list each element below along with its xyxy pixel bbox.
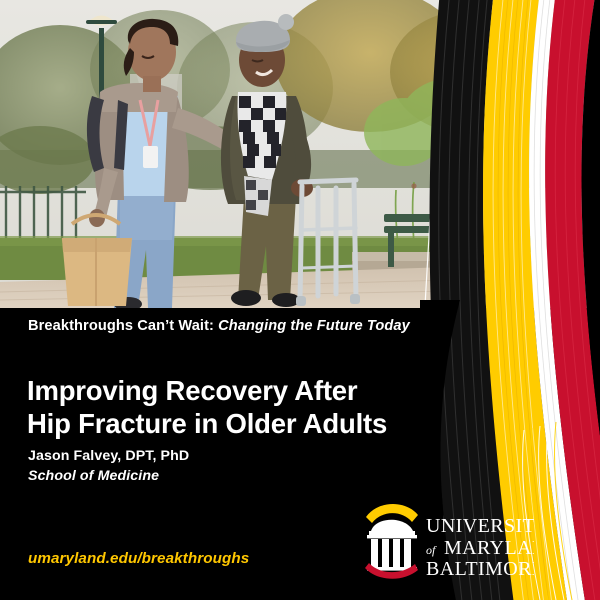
logo-pillars	[371, 539, 411, 567]
umb-logo-svg: UNIVERSITY of MARYLAND BALTIMORE	[362, 498, 534, 582]
campaign-kicker-main: Breakthroughs Can’t Wait:	[28, 318, 214, 334]
speaker-school: School of Medicine	[28, 468, 159, 484]
campaign-url[interactable]: umaryland.edu/breakthroughs	[28, 550, 249, 567]
hero-photo	[0, 0, 600, 308]
logo-text-university: UNIVERSITY	[426, 515, 534, 537]
logo-wordmark: UNIVERSITY of MARYLAND BALTIMORE	[426, 515, 534, 580]
page-title: Improving Recovery After Hip Fracture in…	[27, 374, 497, 440]
logo-text-maryland: MARYLAND	[444, 537, 534, 559]
headline-line-1: Improving Recovery After	[27, 375, 357, 406]
speaker-name: Jason Falvey, DPT, PhD	[28, 448, 189, 464]
campaign-kicker-emphasis: Changing the Future Today	[218, 318, 410, 334]
poster-canvas: Breakthroughs Can’t Wait: Changing the F…	[0, 0, 600, 600]
campaign-kicker: Breakthroughs Can’t Wait: Changing the F…	[28, 318, 508, 334]
logo-text-of: of	[426, 543, 437, 557]
hero-photo-illustration	[0, 0, 600, 308]
logo-text-baltimore: BALTIMORE	[426, 558, 534, 580]
headline-line-2: Hip Fracture in Older Adults	[27, 407, 497, 440]
umb-logo[interactable]: UNIVERSITY of MARYLAND BALTIMORE	[362, 498, 534, 582]
logo-dome	[371, 520, 413, 531]
